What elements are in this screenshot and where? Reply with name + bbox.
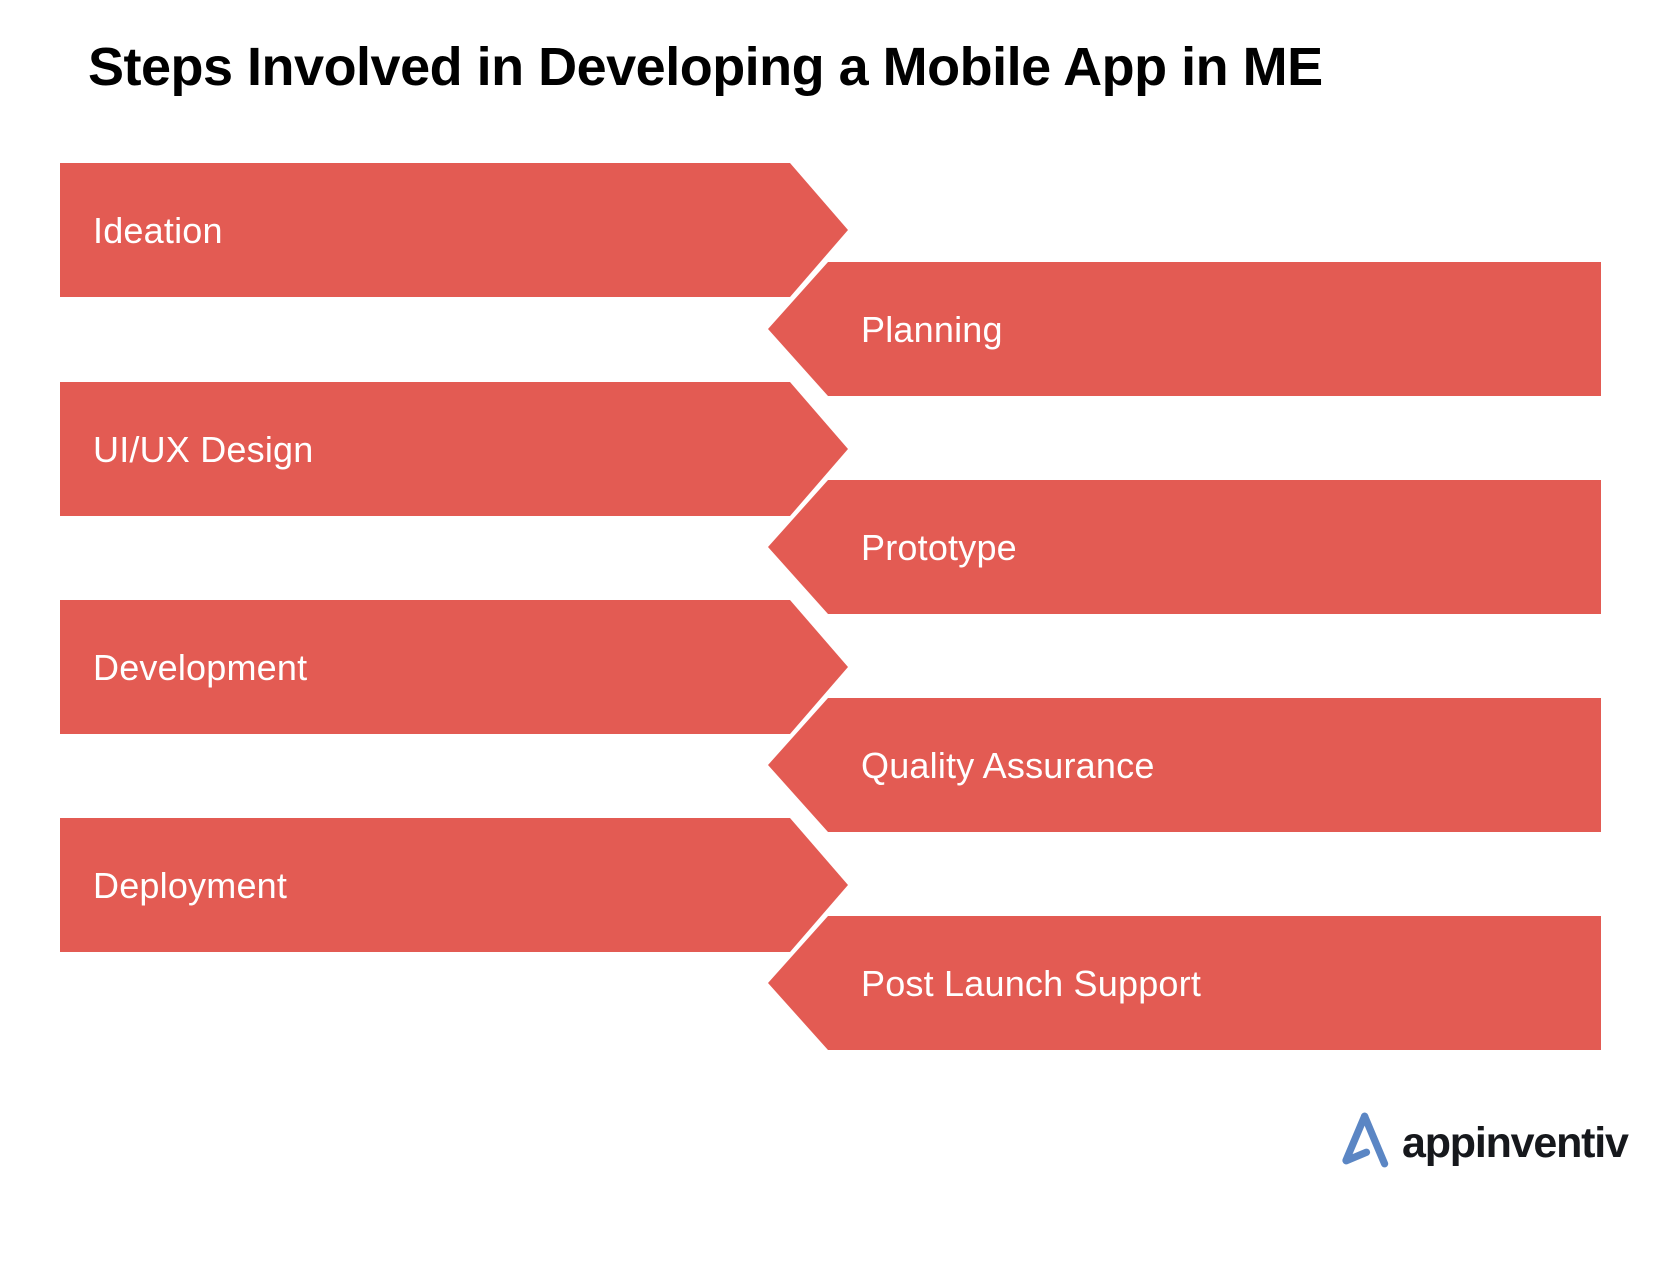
step-ideation[interactable]: Ideation — [60, 163, 848, 297]
step-prototype[interactable]: Prototype — [768, 480, 1601, 614]
step-development[interactable]: Development — [60, 600, 848, 734]
step-label: Prototype — [861, 530, 1017, 566]
appinventiv-logo: appinventiv — [1334, 1098, 1594, 1184]
step-label: Post Launch Support — [861, 966, 1201, 1002]
step-label: Deployment — [93, 868, 287, 904]
step-label: Planning — [861, 312, 1003, 348]
step-post-launch-support[interactable]: Post Launch Support — [768, 916, 1601, 1050]
step-ui-ux-design[interactable]: UI/UX Design — [60, 382, 848, 516]
step-label: Quality Assurance — [861, 748, 1155, 784]
step-deployment[interactable]: Deployment — [60, 818, 848, 952]
step-label: Development — [93, 650, 307, 686]
step-label: UI/UX Design — [93, 432, 313, 468]
step-planning[interactable]: Planning — [768, 262, 1601, 396]
logo-wordmark: appinventiv — [1402, 1122, 1628, 1165]
page-title: Steps Involved in Developing a Mobile Ap… — [88, 36, 1568, 98]
step-quality-assurance[interactable]: Quality Assurance — [768, 698, 1601, 832]
step-label: Ideation — [93, 213, 223, 249]
infographic-canvas: Steps Involved in Developing a Mobile Ap… — [0, 0, 1667, 1265]
appinventiv-a-arrow-icon — [1334, 1110, 1396, 1172]
